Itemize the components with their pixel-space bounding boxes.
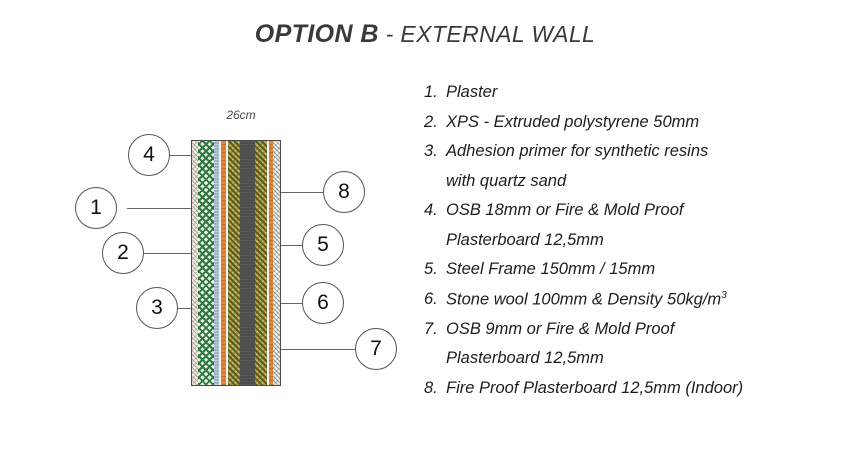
leader-line-6 xyxy=(279,303,302,304)
legend-item-7: 7.OSB 9mm or Fire & Mold Proof xyxy=(424,321,844,338)
legend-item-number: 2. xyxy=(424,114,446,131)
legend-item-text: Plasterboard 12,5mm xyxy=(446,232,844,249)
legend-item-3: 3.with quartz sand xyxy=(424,173,844,190)
callout-6-label: 6 xyxy=(317,291,329,315)
legend-item-text: Steel Frame 150mm / 15mm xyxy=(446,261,844,278)
callout-1-label: 1 xyxy=(90,196,102,220)
callout-2[interactable]: 2 xyxy=(102,232,144,274)
layer-stone-wool-left xyxy=(228,141,240,385)
leader-line-5 xyxy=(279,245,302,246)
title-option: OPTION B xyxy=(255,20,379,48)
layer-fireproof-plasterboard xyxy=(273,141,280,385)
callout-7[interactable]: 7 xyxy=(355,328,397,370)
diagram-canvas: OPTION B - EXTERNAL WALL 26cm 4 1 2 3 xyxy=(0,0,850,475)
wall-thickness-label: 26cm xyxy=(206,108,276,122)
callout-8-label: 8 xyxy=(338,180,350,204)
layer-stone-wool-right xyxy=(255,141,267,385)
callout-4-label: 4 xyxy=(143,143,155,167)
legend-item-number: 4. xyxy=(424,202,446,219)
legend-list: 1.Plaster2.XPS - Extruded polystyrene 50… xyxy=(424,84,844,409)
legend-item-text: Plaster xyxy=(446,84,844,101)
callout-2-label: 2 xyxy=(117,241,129,265)
legend-item-text: with quartz sand xyxy=(446,173,844,190)
leader-line-1 xyxy=(127,208,195,209)
page-title: OPTION B - EXTERNAL WALL xyxy=(0,20,850,49)
legend-item-8: 8.Fire Proof Plasterboard 12,5mm (Indoor… xyxy=(424,380,844,397)
legend-item-text: Plasterboard 12,5mm xyxy=(446,350,844,367)
callout-5[interactable]: 5 xyxy=(302,224,344,266)
legend-item-6: 6.Stone wool 100mm & Density 50kg/m3 xyxy=(424,291,844,308)
callout-8[interactable]: 8 xyxy=(323,171,365,213)
layer-xps-insulation xyxy=(198,141,215,385)
callout-4[interactable]: 4 xyxy=(128,134,170,176)
callout-6[interactable]: 6 xyxy=(302,282,344,324)
wall-cross-section xyxy=(191,140,281,386)
layer-steel-frame-core xyxy=(240,141,255,385)
legend-item-2: 2.XPS - Extruded polystyrene 50mm xyxy=(424,114,844,131)
legend-item-5: 5.Steel Frame 150mm / 15mm xyxy=(424,261,844,278)
legend-item-text: Stone wool 100mm & Density 50kg/m3 xyxy=(446,291,844,308)
legend-item-number: 1. xyxy=(424,84,446,101)
legend-item-4: 4.Plasterboard 12,5mm xyxy=(424,232,844,249)
legend-item-1: 1.Plaster xyxy=(424,84,844,101)
legend-item-number: 7. xyxy=(424,321,446,338)
leader-line-8 xyxy=(279,192,323,193)
legend-item-number: 5. xyxy=(424,261,446,278)
legend-item-text: OSB 9mm or Fire & Mold Proof xyxy=(446,321,844,338)
legend-item-number: 3. xyxy=(424,143,446,160)
legend-item-text: OSB 18mm or Fire & Mold Proof xyxy=(446,202,844,219)
legend-item-text: Adhesion primer for synthetic resins xyxy=(446,143,844,160)
callout-3[interactable]: 3 xyxy=(136,287,178,329)
title-subject: - EXTERNAL WALL xyxy=(379,21,595,47)
legend-item-7: 7.Plasterboard 12,5mm xyxy=(424,350,844,367)
legend-item-text: XPS - Extruded polystyrene 50mm xyxy=(446,114,844,131)
callout-7-label: 7 xyxy=(370,337,382,361)
legend-item-4: 4.OSB 18mm or Fire & Mold Proof xyxy=(424,202,844,219)
callout-1[interactable]: 1 xyxy=(75,187,117,229)
leader-line-2 xyxy=(144,253,194,254)
leader-line-7 xyxy=(279,349,355,350)
legend-item-number: 8. xyxy=(424,380,446,397)
legend-item-number: 6. xyxy=(424,291,446,308)
callout-5-label: 5 xyxy=(317,233,329,257)
legend-item-3: 3.Adhesion primer for synthetic resins xyxy=(424,143,844,160)
callout-3-label: 3 xyxy=(151,296,163,320)
legend-item-text: Fire Proof Plasterboard 12,5mm (Indoor) xyxy=(446,380,844,397)
